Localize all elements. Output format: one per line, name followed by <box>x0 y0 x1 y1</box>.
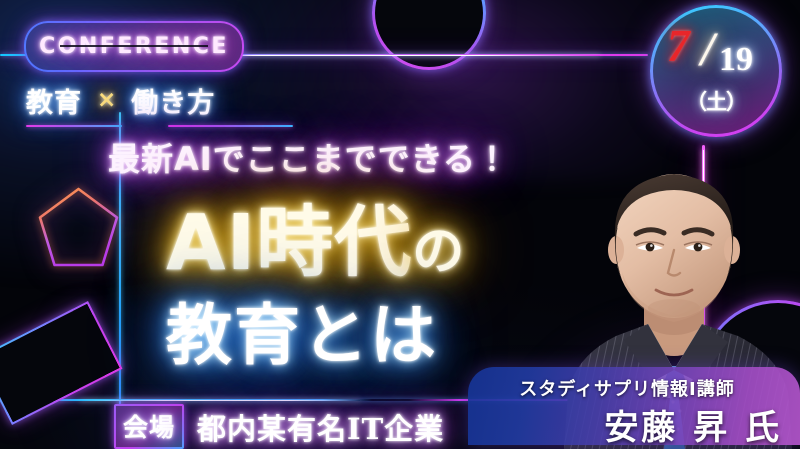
headline-line-1: AI時代の <box>166 205 465 282</box>
event-poster: CONFERENCE 教育 × 働き方 7 / 19 （土） 最新AIでここまで… <box>0 0 800 449</box>
date-month: 7 <box>667 20 690 72</box>
keywords-row: 教育 × 働き方 <box>26 75 262 125</box>
headline-line-2: 教育とは <box>166 303 438 369</box>
keyword-right: 働き方 <box>131 81 215 120</box>
headline-line-1-main: AI時代 <box>166 199 412 288</box>
neon-bottom-line-core <box>80 400 360 401</box>
date-day: 19 <box>719 41 753 79</box>
keyword-left: 教育 <box>26 81 82 120</box>
headline-line-1-suffix: の <box>412 222 465 282</box>
keyword-right-underline <box>168 125 293 127</box>
date-day-of-week: （土） <box>653 86 779 116</box>
speaker-name: 安藤 昇 氏 <box>604 400 782 445</box>
conference-badge: CONFERENCE <box>24 21 244 72</box>
keyword-separator-icon: × <box>97 87 116 113</box>
venue-tag: 会場 <box>114 404 184 449</box>
event-date-inner: 7 / 19 （土） <box>653 8 779 134</box>
keyword-left-underline <box>26 125 122 127</box>
conference-badge-label: CONFERENCE <box>39 34 229 59</box>
headline-kicker: 最新AIでここまでできる！ <box>108 134 509 180</box>
neon-pentagon-icon <box>36 186 121 269</box>
speaker-info-panel: スタディサプリ情報Ⅰ講師 安藤 昇 氏 <box>468 367 800 445</box>
venue-row: 会場 都内某有名IT企業 <box>114 404 444 449</box>
date-slash: / <box>701 22 714 77</box>
venue-name: 都内某有名IT企業 <box>197 406 444 448</box>
speaker-role: スタディサプリ情報Ⅰ講師 <box>468 375 786 401</box>
event-date-badge: 7 / 19 （土） <box>650 5 782 137</box>
